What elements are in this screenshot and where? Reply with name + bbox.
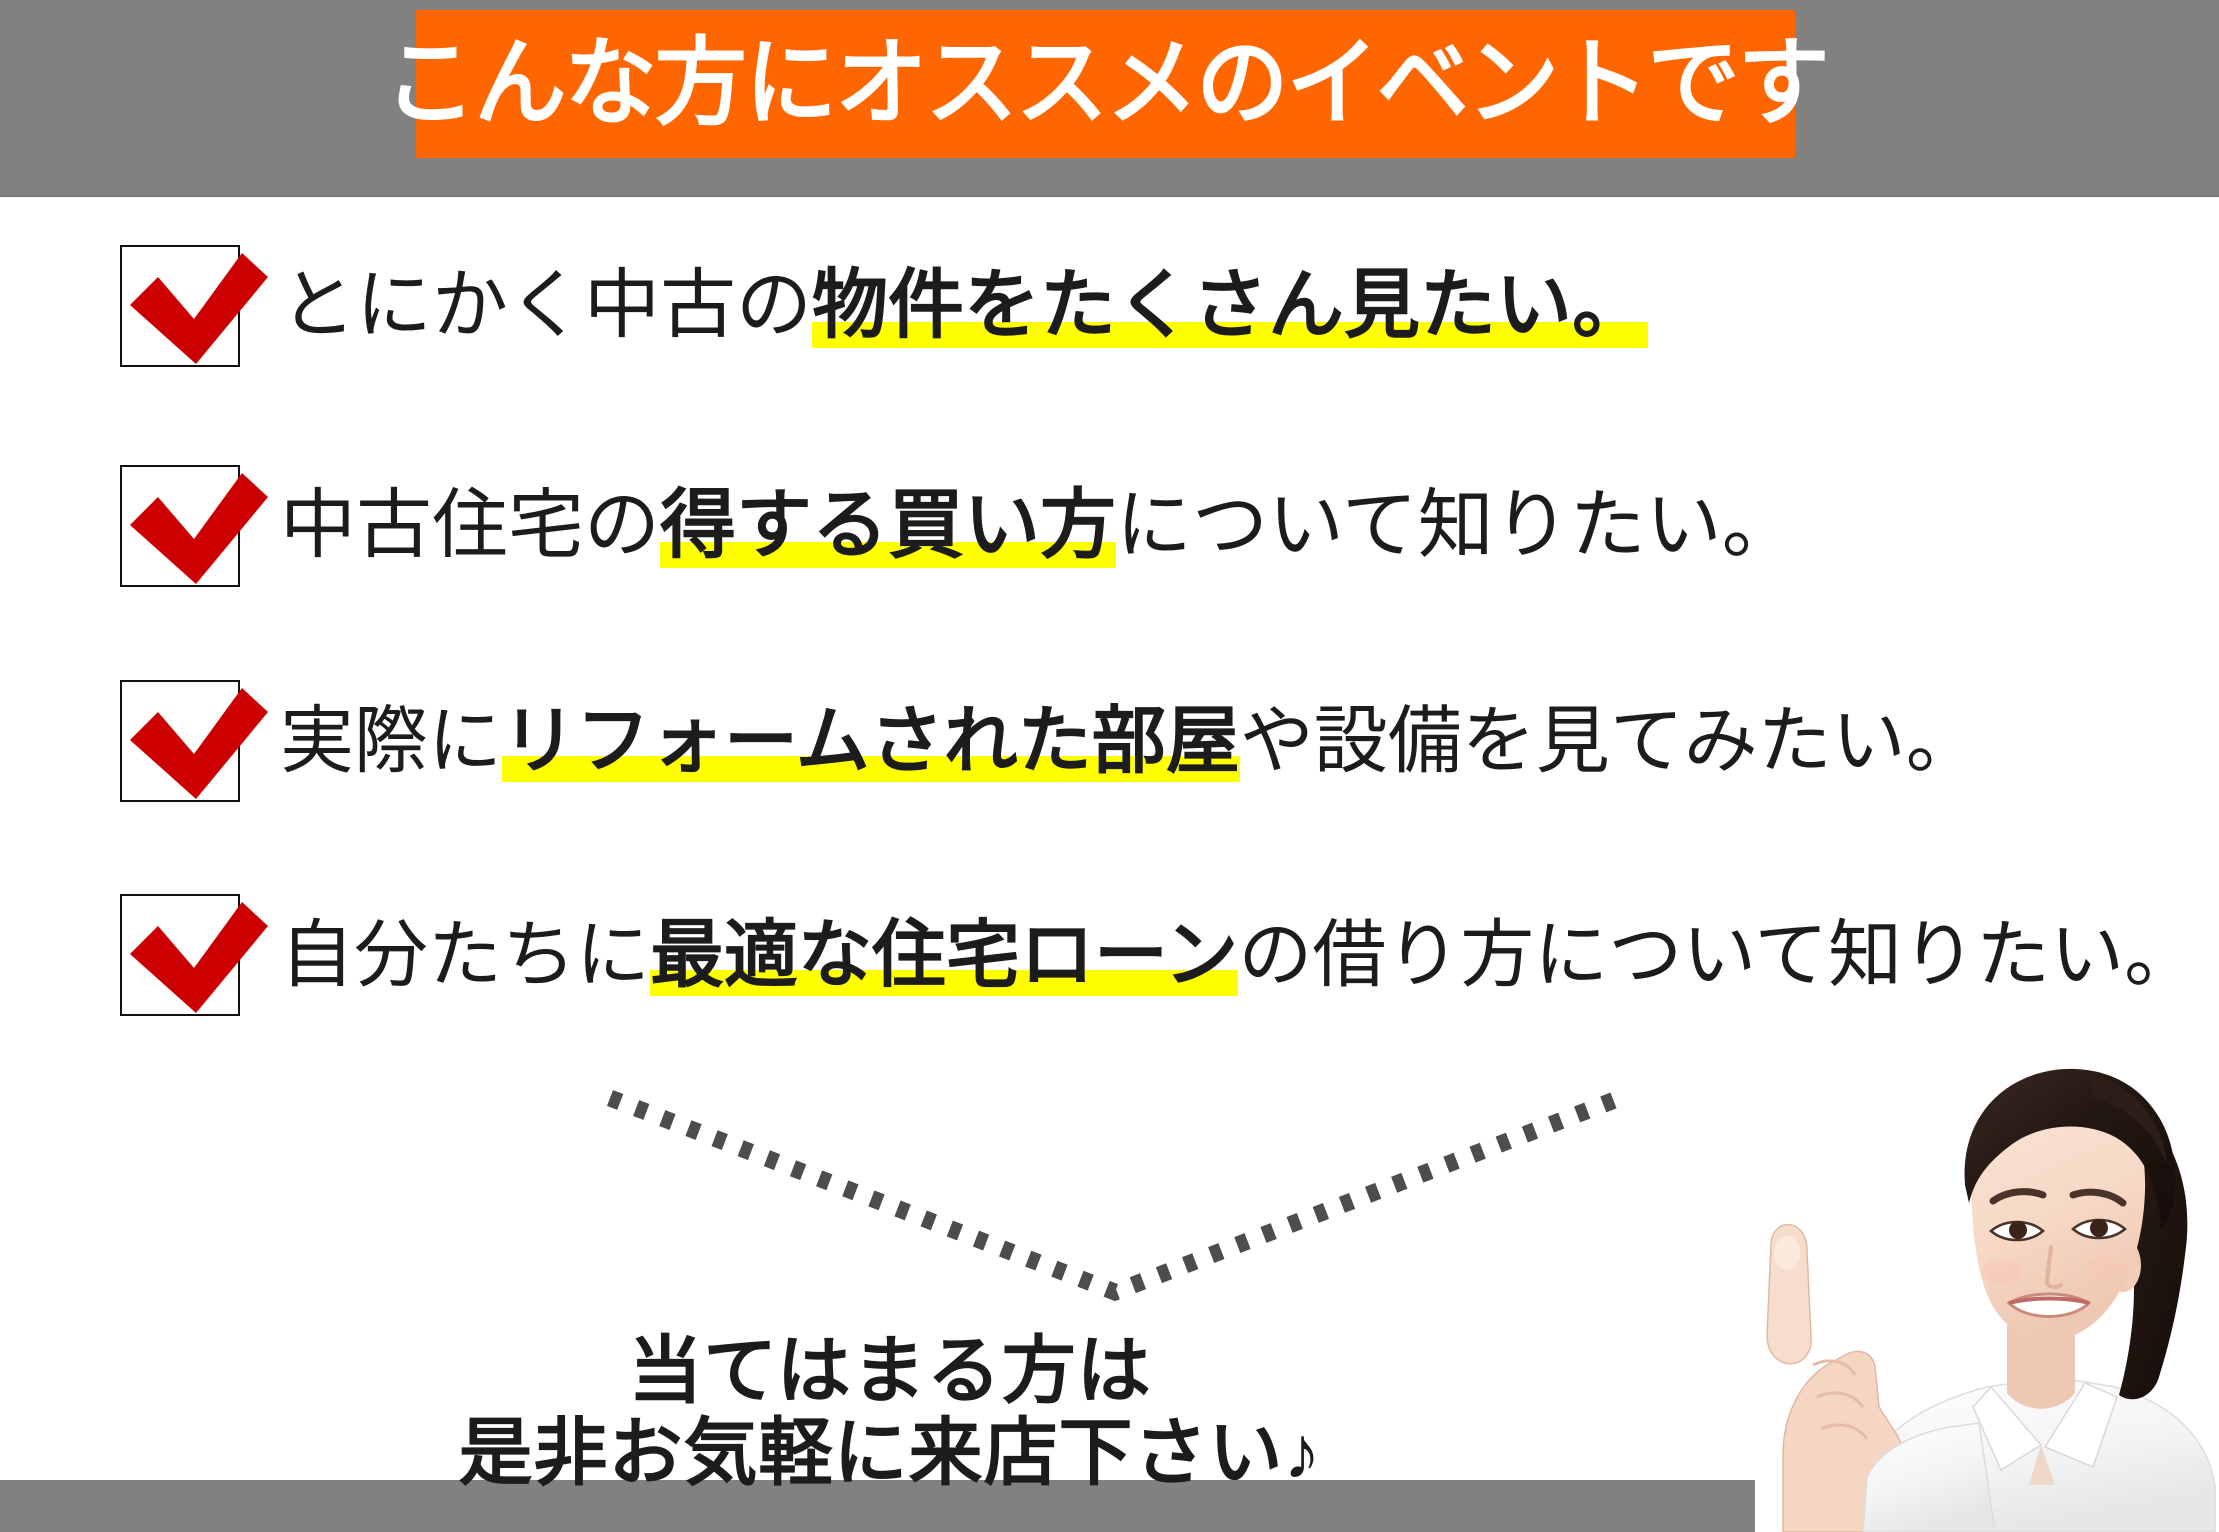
check-mark-icon (116, 233, 268, 383)
checklist-text-plain-after: や設備を見てみたい。 (1240, 699, 1980, 782)
checklist-text-highlighted: 物件をたくさん見たい。 (812, 263, 1648, 348)
checklist-text-highlighted: リフォームされた部屋 (502, 699, 1240, 782)
checkbox-checked[interactable] (120, 894, 240, 1016)
cta-line-1: 当てはまる方は (0, 1330, 1780, 1412)
woman-pointing-photo (1755, 1015, 2219, 1532)
checklist-text-highlighted: 得する買い方 (660, 483, 1116, 568)
checklist-text-plain-after: の借り方について知りたい。 (1238, 913, 2198, 996)
checklist-text-plain-before: 自分たちに (280, 913, 650, 996)
checklist-item-text: 中古住宅の得する買い方について知りたい。 (280, 465, 1798, 587)
chevron-down-icon (600, 1060, 1630, 1310)
header-banner: こんな方にオススメのイベントです (416, 10, 1795, 158)
checklist-item[interactable]: 中古住宅の得する買い方について知りたい。 (120, 465, 1798, 595)
checklist-item[interactable]: 自分たちに最適な住宅ローンの借り方について知りたい。 (120, 894, 2198, 1024)
check-mark-icon (116, 453, 268, 603)
checkbox-checked[interactable] (120, 680, 240, 802)
cta-text: 当てはまる方は 是非お気軽に来店下さい♪ (0, 1330, 1780, 1494)
cta-line-2: 是非お気軽に来店下さい♪ (0, 1412, 1780, 1494)
checklist-item[interactable]: 実際にリフォームされた部屋や設備を見てみたい。 (120, 680, 1980, 810)
checklist-item-text: 自分たちに最適な住宅ローンの借り方について知りたい。 (280, 894, 2198, 1016)
poster-root: こんな方にオススメのイベントです とにかく中古の物件をたくさん見たい。 中古住宅 (0, 0, 2219, 1532)
checklist-text-highlighted: 最適な住宅ローン (650, 913, 1238, 996)
checklist-text-plain-before: とにかく中古の (280, 263, 812, 348)
check-mark-icon (116, 882, 268, 1032)
checklist-text-plain-after: について知りたい。 (1116, 483, 1798, 568)
checkbox-checked[interactable] (120, 245, 240, 367)
check-mark-icon (116, 668, 268, 818)
checkbox-checked[interactable] (120, 465, 240, 587)
page-title: こんな方にオススメのイベントです (384, 36, 1828, 132)
checklist-text-plain-before: 中古住宅の (280, 483, 660, 568)
checklist-item-text: 実際にリフォームされた部屋や設備を見てみたい。 (280, 680, 1980, 802)
checklist-text-plain-before: 実際に (280, 699, 502, 782)
checklist-item-text: とにかく中古の物件をたくさん見たい。 (280, 245, 1648, 367)
dotted-chevron-arrow (600, 1060, 1630, 1310)
checklist-item[interactable]: とにかく中古の物件をたくさん見たい。 (120, 245, 1648, 375)
person-illustration (1755, 1015, 2219, 1532)
